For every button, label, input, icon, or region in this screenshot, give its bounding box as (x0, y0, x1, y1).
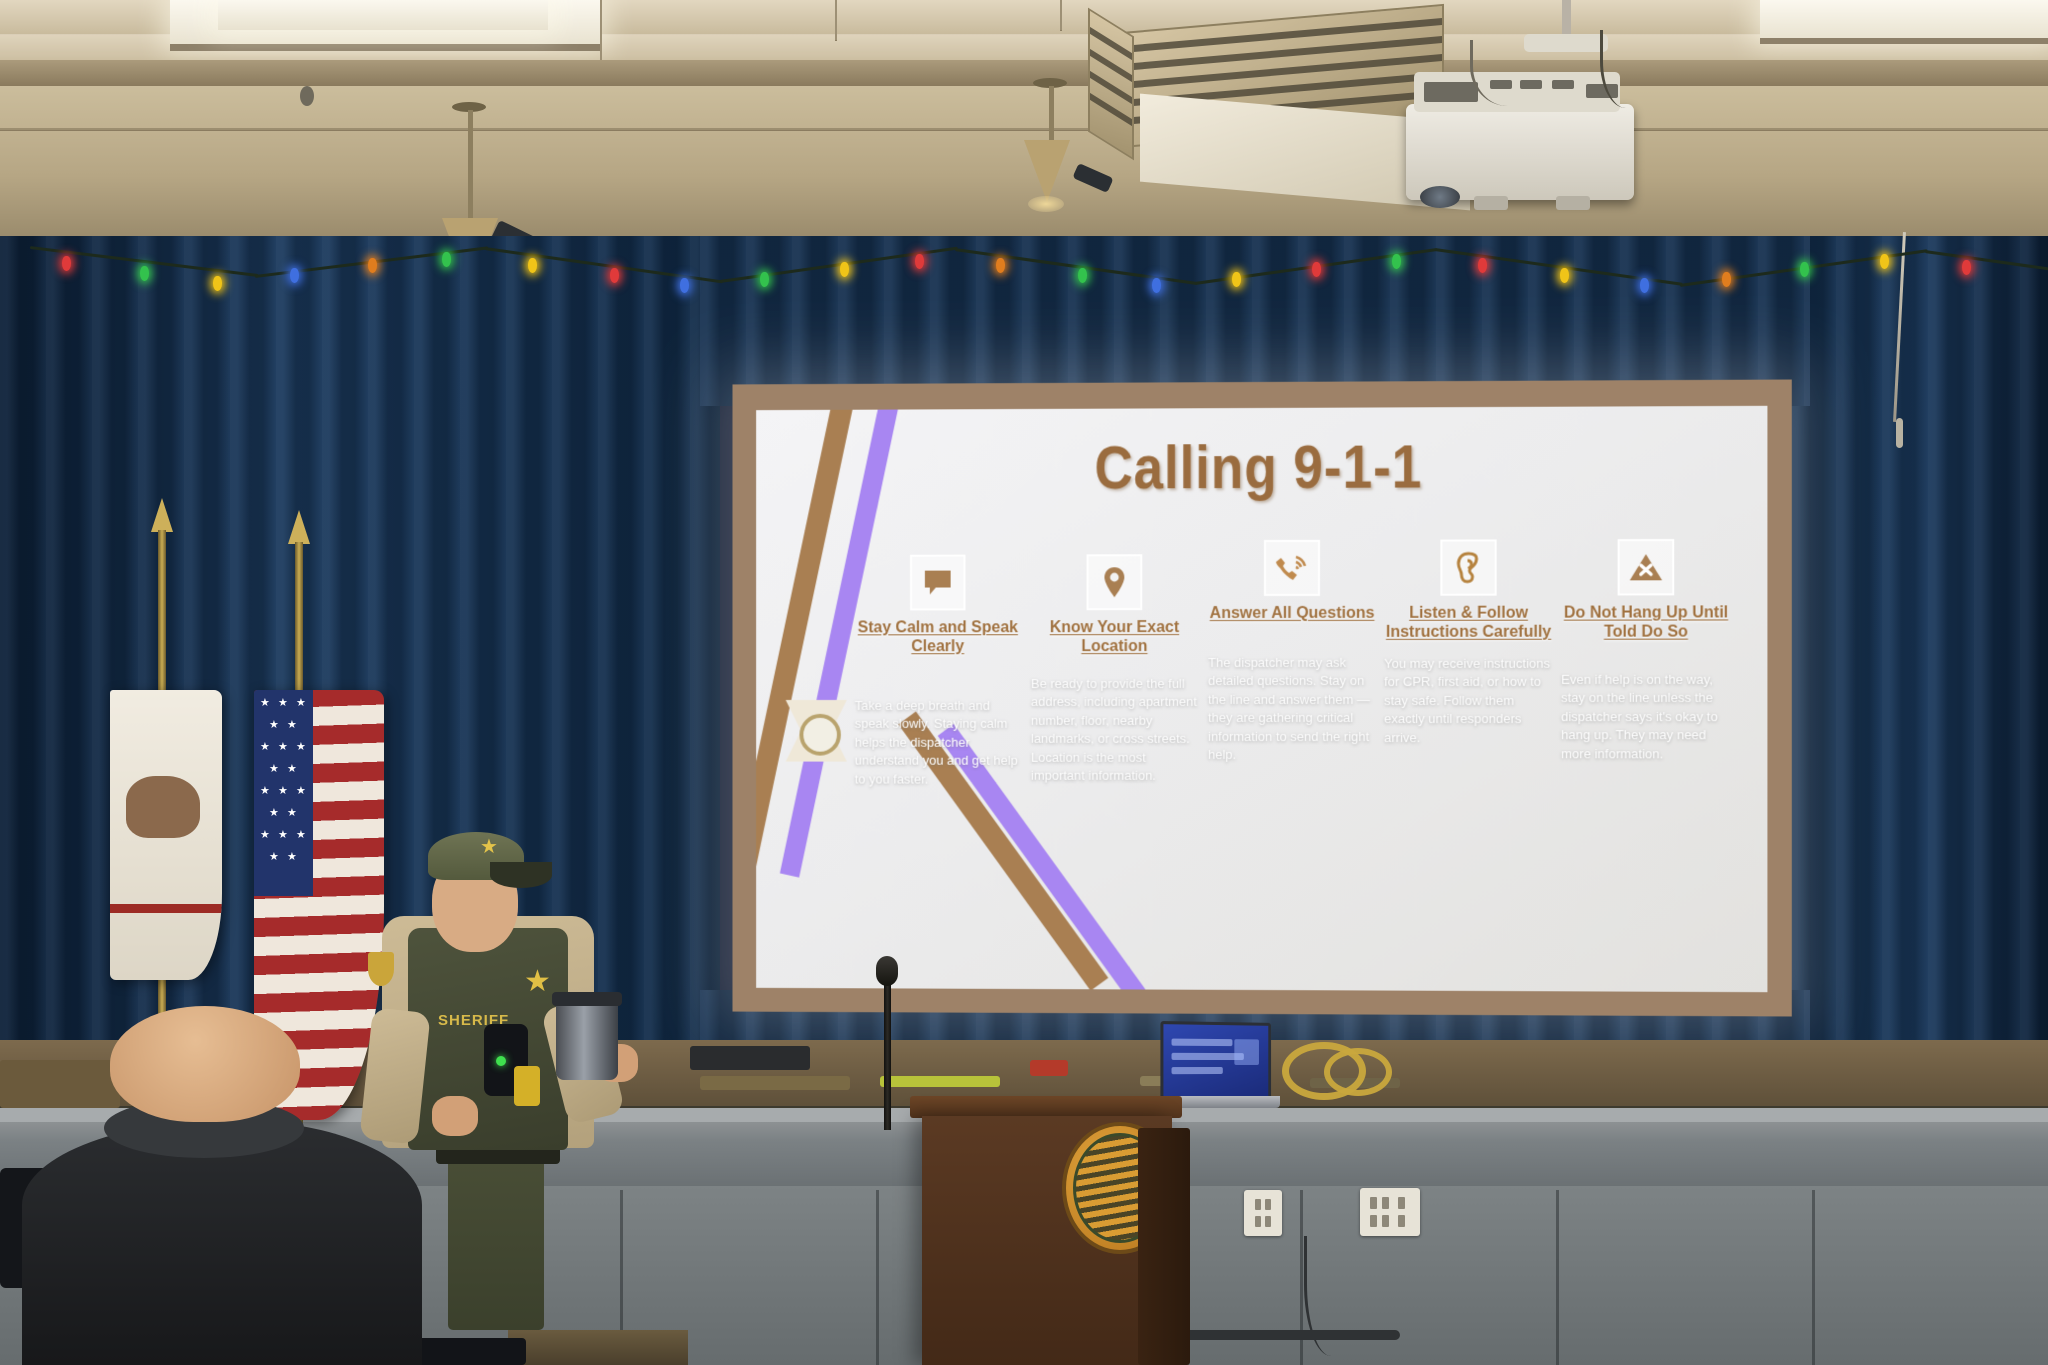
ceiling-beam (0, 60, 2048, 86)
stage-yellow-item (880, 1076, 1000, 1087)
projector-lens (1420, 186, 1460, 208)
string-light-bulb (915, 254, 924, 269)
presenter-laptop-screen[interactable] (1160, 1021, 1271, 1105)
wall-seam (0, 128, 2048, 131)
string-light-bulb (760, 272, 769, 287)
microphone (876, 956, 898, 986)
projector-foot (1474, 196, 1508, 210)
pendant-rod (1049, 86, 1054, 144)
slide-column-heading: Stay Calm and Speak Clearly (855, 619, 1021, 657)
string-light-bulb (1478, 258, 1487, 273)
seated-attendee-head (110, 1006, 300, 1122)
slide-column-body: Be ready to provide the full address, in… (1031, 675, 1198, 786)
floor-cable (1180, 1330, 1400, 1340)
podium-top (910, 1096, 1182, 1118)
flagpole-finial (288, 510, 310, 544)
slide-column-heading: Answer All Questions (1208, 605, 1376, 624)
flagpole-finial (151, 498, 173, 532)
auditorium-scene: Calling 9-1-1 Stay Calm and Speak Clearl… (0, 0, 2048, 1365)
extension-cord-coil (1324, 1048, 1392, 1096)
ceiling-seam (1060, 0, 1062, 31)
cord-weight (1896, 418, 1903, 448)
sheriff-star-badge (786, 700, 847, 762)
string-light-bulb (140, 266, 149, 281)
ringing-phone-icon (1264, 540, 1320, 596)
stage-box (0, 1060, 120, 1108)
slide-column-body: The dispatcher may ask detailed question… (1208, 654, 1376, 765)
string-light-bulb (1962, 260, 1971, 275)
badge-ring (799, 714, 840, 756)
wall-outlet[interactable] (1244, 1190, 1282, 1236)
string-light-bulb (1640, 278, 1649, 293)
slide-column-body: Even if help is on the way, stay on the … (1561, 671, 1731, 764)
projector-vent (1424, 82, 1478, 102)
pendant-rod (468, 110, 473, 222)
travel-mug[interactable] (556, 1000, 618, 1080)
location-pin-icon (1087, 554, 1143, 610)
device-indicator-light (496, 1056, 506, 1066)
string-light-bulb (1392, 254, 1401, 269)
string-light-bulb (1232, 272, 1241, 287)
podium-side (1138, 1128, 1190, 1365)
ceiling-sensor (300, 86, 314, 106)
string-light-bulb (528, 258, 537, 273)
stage-equipment-case (690, 1046, 810, 1070)
slide-column-body: Take a deep breath and speak slowly. Sta… (855, 697, 1021, 789)
projector-button (1552, 80, 1574, 89)
skylight (218, 0, 548, 30)
string-light-bulb (610, 268, 619, 283)
travel-mug-lid (552, 992, 622, 1006)
cap-star-emblem: ★ (480, 834, 498, 859)
ceiling-seam (600, 0, 602, 63)
string-light-bulb (996, 258, 1005, 273)
string-light-bulb (1722, 272, 1731, 287)
panel-divider (1812, 1190, 1815, 1365)
string-light-bulb (1800, 262, 1809, 277)
string-light-bulb (680, 278, 689, 293)
panel-divider (876, 1190, 879, 1365)
string-light-bulb (290, 268, 299, 283)
string-light-bulb (1152, 278, 1161, 293)
projection-screen: Calling 9-1-1 Stay Calm and Speak Clearl… (733, 380, 1792, 1017)
projector-mount-plate (1524, 34, 1608, 52)
pendant-glow (1028, 196, 1064, 212)
string-light-bulb (442, 252, 451, 267)
slide-column: Listen & Follow Instructions Carefully Y… (1384, 539, 1553, 747)
foreground-table (508, 1330, 688, 1365)
slide-column-heading: Listen & Follow Instructions Carefully (1384, 605, 1553, 643)
flag-canton: ★ ★ ★ ★ ★ ★ ★ ★ ★ ★ ★ ★ ★ ★ ★ ★ ★ ★ ★ ★ (254, 690, 313, 896)
slide-column: Answer All Questions The dispatcher may … (1208, 540, 1376, 765)
microphone-stand (884, 980, 891, 1130)
skylight-frame (1760, 38, 2048, 44)
string-light-bulb (62, 256, 71, 271)
string-light-bulb (1078, 268, 1087, 283)
projector-foot (1556, 196, 1590, 210)
stage-board (700, 1076, 850, 1090)
pendant-lamp (1024, 140, 1070, 202)
california-flag-stripe (110, 904, 222, 913)
wall-outlet-double[interactable] (1360, 1188, 1420, 1236)
taser-device[interactable] (514, 1066, 540, 1106)
ear-listen-icon (1440, 539, 1496, 595)
string-light-bulb (213, 276, 222, 291)
ceiling-seam (835, 0, 837, 41)
speech-bubble-icon (910, 555, 965, 611)
string-light-bulb (368, 258, 377, 273)
stage-red-item (1030, 1060, 1068, 1076)
slide-column: Know Your Exact Location Be ready to pro… (1031, 554, 1198, 785)
warning-triangle-x-icon (1618, 539, 1675, 595)
deputy-left-hand (432, 1096, 478, 1136)
shoulder-patch (368, 952, 394, 986)
presentation-slide: Calling 9-1-1 Stay Calm and Speak Clearl… (756, 406, 1767, 992)
string-light-bulb (1880, 254, 1889, 269)
deputy-cap-brim (490, 862, 552, 888)
skylight-frame (170, 44, 600, 51)
string-light-bulb (1312, 262, 1321, 277)
deputy-badge-star: ★ (524, 964, 551, 999)
slide-column-heading: Know Your Exact Location (1031, 619, 1198, 657)
slide-column-heading: Do Not Hang Up Until Told Do So (1561, 604, 1731, 642)
stage-curtain-right (1790, 236, 2048, 1096)
slide-column: Stay Calm and Speak Clearly Take a deep … (855, 555, 1021, 789)
string-light-bulb (840, 262, 849, 277)
string-light-bulb (1560, 268, 1569, 283)
slide-title: Calling 9-1-1 (826, 430, 1696, 504)
skylight (1760, 0, 2048, 40)
california-bear (126, 776, 200, 838)
panel-divider (1556, 1190, 1559, 1365)
slide-column: Do Not Hang Up Until Told Do So Even if … (1561, 539, 1731, 764)
slide-column-body: You may receive instructions for CPR, fi… (1384, 655, 1553, 748)
california-state-flag (110, 690, 222, 980)
